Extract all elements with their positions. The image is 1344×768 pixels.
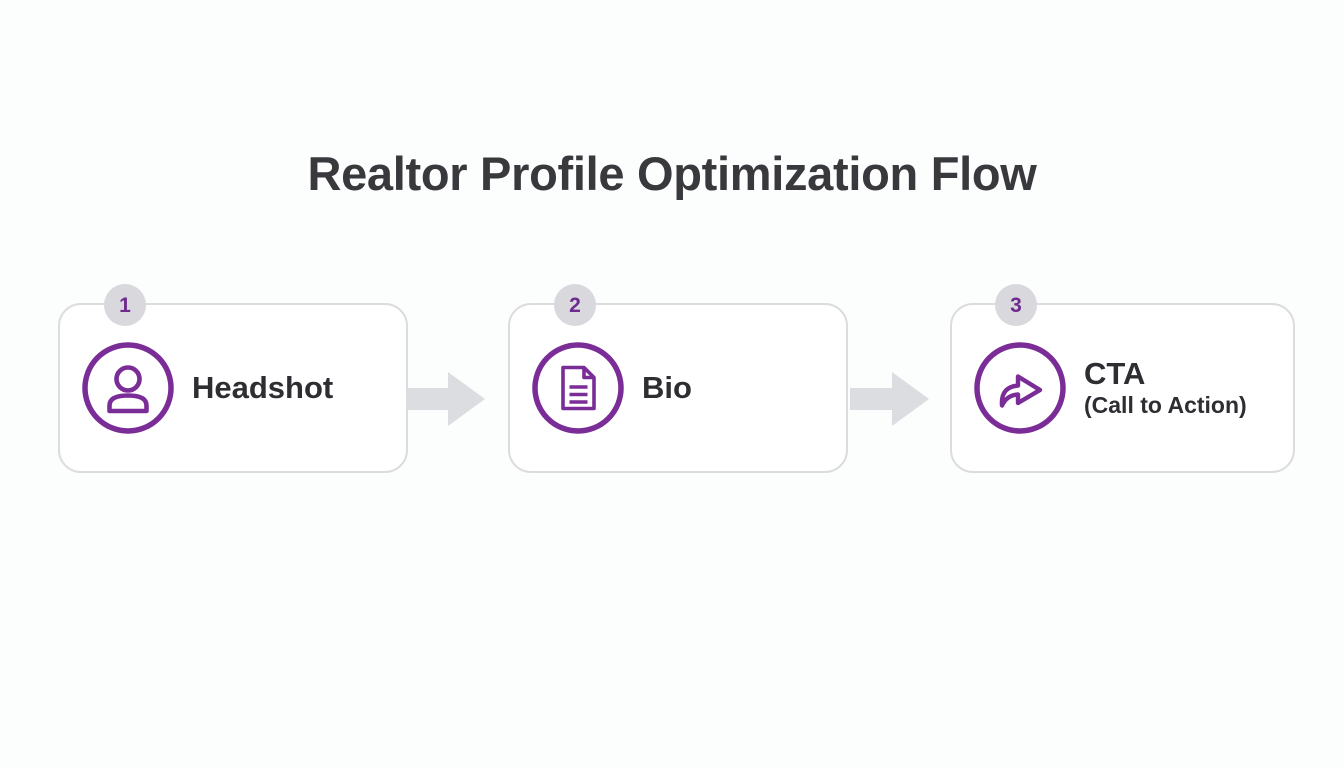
step-card-text: Headshot xyxy=(192,371,333,406)
step-card-content: CTA (Call to Action) xyxy=(952,305,1293,471)
step-label: Headshot xyxy=(192,371,333,406)
step-number-badge: 2 xyxy=(554,284,596,326)
arrow-step2-to-step3-icon xyxy=(850,366,930,432)
step-card-cta[interactable]: 3 CTA (Call to Action) xyxy=(950,303,1295,473)
step-card-headshot[interactable]: 1 Headshot xyxy=(58,303,408,473)
step-card-text: Bio xyxy=(642,371,692,406)
step-card-content: Bio xyxy=(510,305,846,471)
page-title: Realtor Profile Optimization Flow xyxy=(0,146,1344,201)
flow-steps-row: 1 Headshot 2 xyxy=(0,303,1344,475)
document-icon xyxy=(532,342,624,434)
person-icon xyxy=(82,342,174,434)
step-sublabel: (Call to Action) xyxy=(1084,392,1247,418)
step-number-badge: 3 xyxy=(995,284,1037,326)
step-label: Bio xyxy=(642,371,692,406)
step-card-text: CTA (Call to Action) xyxy=(1084,357,1247,418)
flow-diagram: Realtor Profile Optimization Flow 1 Head… xyxy=(0,0,1344,768)
share-arrow-icon xyxy=(974,342,1066,434)
step-number-badge: 1 xyxy=(104,284,146,326)
arrow-step1-to-step2-icon xyxy=(406,366,486,432)
step-card-content: Headshot xyxy=(60,305,406,471)
step-label: CTA xyxy=(1084,357,1247,392)
step-card-bio[interactable]: 2 Bio xyxy=(508,303,848,473)
